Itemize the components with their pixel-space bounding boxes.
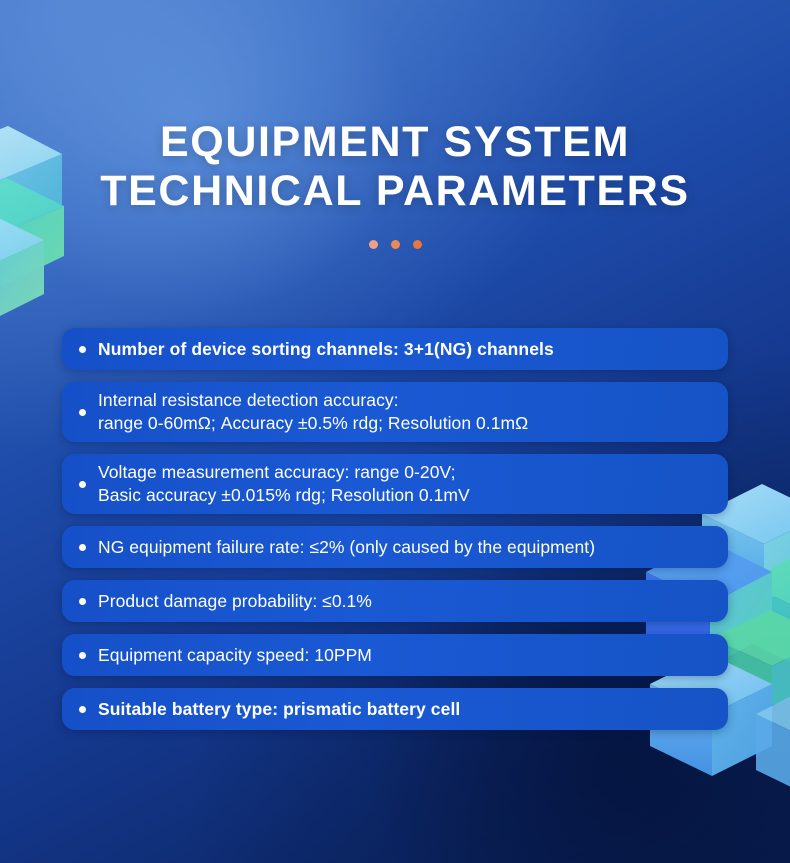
bullet-icon: [79, 481, 86, 488]
spec-text: Product damage probability: ≤0.1%: [98, 590, 372, 613]
dot-1-icon: [369, 240, 378, 249]
bullet-icon: [79, 706, 86, 713]
spec-row-product-damage-probability: Product damage probability: ≤0.1%: [62, 580, 728, 622]
decorative-dots: [0, 240, 790, 249]
poster-canvas: EQUIPMENT SYSTEM TECHNICAL PARAMETERS Nu…: [0, 0, 790, 863]
spec-row-sorting-channels: Number of device sorting channels: 3+1(N…: [62, 328, 728, 370]
dot-2-icon: [391, 240, 400, 249]
spec-row-ng-failure-rate: NG equipment failure rate: ≤2% (only cau…: [62, 526, 728, 568]
bullet-icon: [79, 409, 86, 416]
bullet-icon: [79, 652, 86, 659]
page-title-line-2: TECHNICAL PARAMETERS: [0, 167, 790, 216]
spec-text: NG equipment failure rate: ≤2% (only cau…: [98, 536, 595, 559]
page-title-line-1: EQUIPMENT SYSTEM: [0, 118, 790, 167]
specification-list: Number of device sorting channels: 3+1(N…: [62, 328, 728, 742]
spec-text: Number of device sorting channels: 3+1(N…: [98, 338, 554, 361]
spec-row-equipment-capacity-speed: Equipment capacity speed: 10PPM: [62, 634, 728, 676]
spec-row-voltage-measurement-accuracy: Voltage measurement accuracy: range 0-20…: [62, 454, 728, 514]
bullet-icon: [79, 346, 86, 353]
spec-text: Voltage measurement accuracy: range 0-20…: [98, 461, 470, 507]
spec-text: Suitable battery type: prismatic battery…: [98, 698, 460, 721]
spec-row-suitable-battery-type: Suitable battery type: prismatic battery…: [62, 688, 728, 730]
dot-3-icon: [413, 240, 422, 249]
page-header: EQUIPMENT SYSTEM TECHNICAL PARAMETERS: [0, 118, 790, 249]
bullet-icon: [79, 598, 86, 605]
spec-text: Equipment capacity speed: 10PPM: [98, 644, 372, 667]
spec-row-internal-resistance-accuracy: Internal resistance detection accuracy: …: [62, 382, 728, 442]
spec-text: Internal resistance detection accuracy: …: [98, 389, 528, 435]
bullet-icon: [79, 544, 86, 551]
